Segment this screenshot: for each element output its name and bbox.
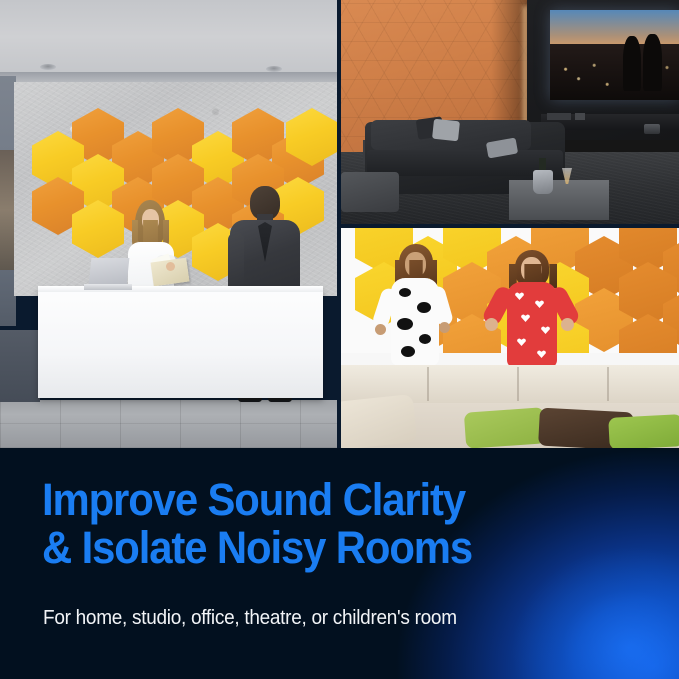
reception-desk xyxy=(38,288,323,398)
hand xyxy=(561,318,574,331)
screen-couple-silhouette xyxy=(623,32,662,91)
headline-line-2: & Isolate Noisy Rooms xyxy=(42,524,600,572)
heart-icon xyxy=(541,326,550,334)
cushion xyxy=(432,119,460,142)
ottoman xyxy=(341,172,399,212)
cow-spot xyxy=(419,334,431,344)
desk-top-edge xyxy=(38,286,323,292)
silhouette xyxy=(623,36,641,91)
wood-slat-wall xyxy=(0,150,14,270)
ice-bucket xyxy=(533,170,553,194)
heart-icon xyxy=(535,300,544,308)
heart-icon xyxy=(537,350,546,358)
page-title: Improve Sound Clarity & Isolate Noisy Ro… xyxy=(42,476,600,572)
couch-cushion xyxy=(341,394,417,448)
downlight-icon xyxy=(40,64,56,70)
green-cushion xyxy=(608,414,679,448)
hand xyxy=(439,322,450,333)
floor-shadow-left xyxy=(0,330,40,402)
heart-icon xyxy=(517,338,526,346)
hand xyxy=(485,318,498,331)
onesie-body xyxy=(391,278,439,366)
headline-line-1: Improve Sound Clarity xyxy=(42,474,465,525)
laptop-base xyxy=(84,284,132,290)
green-cushion xyxy=(464,407,546,448)
laptop-screen xyxy=(89,258,130,285)
onesie-body xyxy=(507,282,557,368)
cow-spot xyxy=(401,346,415,357)
hand xyxy=(166,262,175,271)
couch-seam xyxy=(607,367,609,401)
av-receiver xyxy=(547,113,571,120)
projector-screen xyxy=(550,10,679,100)
page-subtitle: For home, studio, office, theatre, or ch… xyxy=(43,607,457,630)
laptop xyxy=(84,258,130,290)
downlight-icon xyxy=(266,66,282,72)
cow-spot xyxy=(397,318,413,330)
heart-icon xyxy=(521,314,530,322)
cow-spot xyxy=(417,302,431,313)
home-theatre-scene xyxy=(341,0,679,224)
silhouette xyxy=(643,34,662,91)
couch-seam xyxy=(427,367,429,401)
children-room-scene xyxy=(341,228,679,448)
hand xyxy=(375,324,386,335)
projector xyxy=(644,124,660,134)
couch-seam xyxy=(517,367,519,401)
coffee-table xyxy=(509,180,609,220)
heart-icon xyxy=(515,292,524,300)
image-collage xyxy=(0,0,679,448)
cow-spot xyxy=(399,288,411,297)
media-player xyxy=(575,113,585,120)
receptionist-figure xyxy=(122,200,180,296)
office-reception-scene xyxy=(0,0,337,448)
ad-banner-page: Improve Sound Clarity & Isolate Noisy Ro… xyxy=(0,0,679,679)
